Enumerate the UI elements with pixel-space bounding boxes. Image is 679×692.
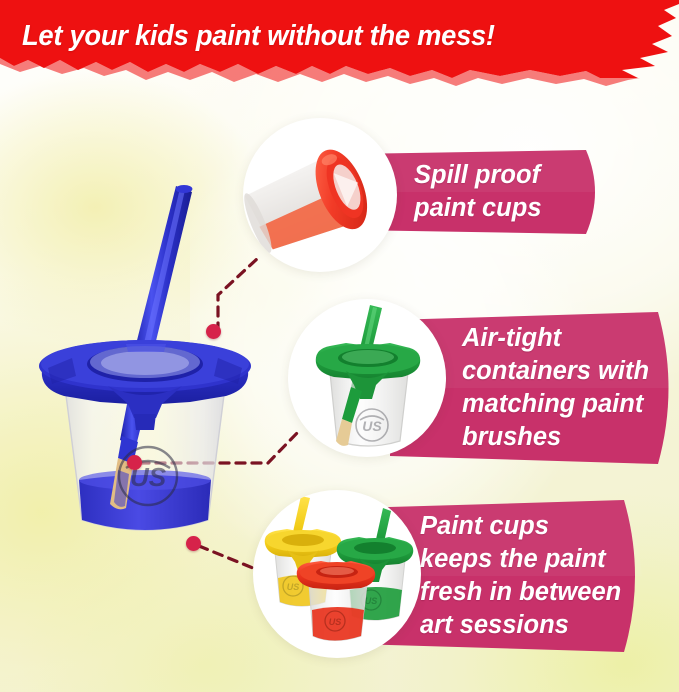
svg-text:US: US xyxy=(362,418,382,434)
connector-dot-1 xyxy=(206,324,221,339)
svg-text:US: US xyxy=(287,582,300,592)
header-paint-stroke-shape xyxy=(0,0,679,108)
feature-label-3: Paint cups keeps the paint fresh in betw… xyxy=(420,510,621,642)
feature-badge-2: US xyxy=(288,299,446,457)
page-title: Let your kids paint without the mess! xyxy=(22,22,598,52)
feature-label-2: Air-tight containers with matching paint… xyxy=(462,322,649,454)
green-paint-cup-with-brush-icon: US xyxy=(288,299,446,457)
feature-badge-3: US US xyxy=(253,490,421,658)
svg-text:US: US xyxy=(365,596,378,606)
connector-dot-3 xyxy=(186,536,201,551)
feature-label-1: Spill proof paint cups xyxy=(414,159,542,225)
header-banner: Let your kids paint without the mess! xyxy=(0,0,679,108)
feature-badge-1 xyxy=(243,118,397,272)
connector-dot-2 xyxy=(127,455,142,470)
red-paint-cup-tilted-icon xyxy=(243,118,397,272)
hero-product-blue-paint-cup: US xyxy=(30,168,260,568)
svg-text:US: US xyxy=(329,617,342,627)
three-paint-cups-icon: US US xyxy=(253,490,421,658)
blue-paint-cup-illustration: US xyxy=(30,168,260,568)
product-infographic: Let your kids paint without the mess! xyxy=(0,0,679,692)
